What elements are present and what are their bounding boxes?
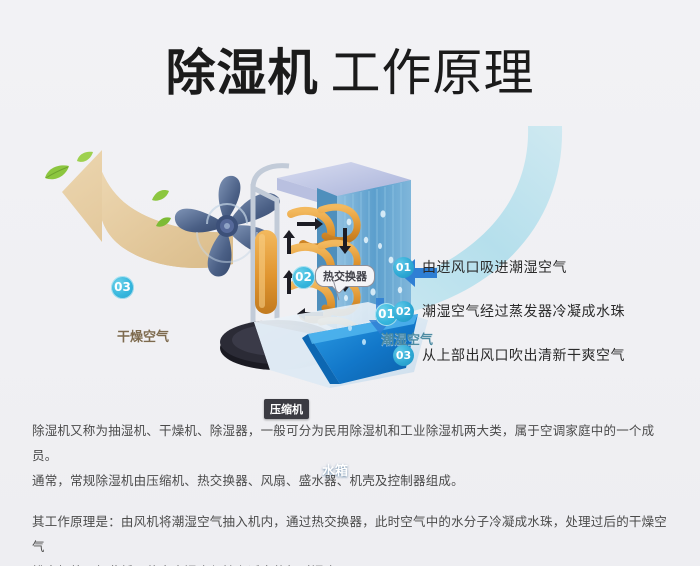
paragraph-2-line-2: 排出机外，如此循环使室内湿度保持在适宜的相对湿度。 xyxy=(32,559,672,566)
legend-item-03: 03 从上部出风口吹出清新干爽空气 xyxy=(393,344,683,366)
leaf-icon xyxy=(44,164,70,182)
legend-badge-01: 01 xyxy=(393,257,414,278)
legend-label-03: 从上部出风口吹出清新干爽空气 xyxy=(422,345,625,365)
paragraph-1-line-1: 除湿机又称为抽湿机、干燥机、除湿器，一般可分为民用除湿机和工业除湿机两大类，属于… xyxy=(32,418,672,468)
diagram-badge-02: 02 xyxy=(292,266,315,289)
page-title-light: 工作原理 xyxy=(331,44,535,102)
legend-item-02: 02 潮湿空气经过蒸发器冷凝成水珠 xyxy=(393,300,683,322)
page-title: 除湿机工作原理 xyxy=(0,33,700,105)
legend-list: 01 由进风口吸进潮湿空气 02 潮湿空气经过蒸发器冷凝成水珠 03 从上部出风… xyxy=(393,256,683,388)
legend-badge-03: 03 xyxy=(393,345,414,366)
label-compressor: 压缩机 xyxy=(264,399,309,419)
page-root: 除湿机工作原理 xyxy=(0,0,700,566)
legend-badge-02: 02 xyxy=(393,301,414,322)
paragraph-2-line-1: 其工作原理是：由风机将潮湿空气抽入机内，通过热交换器，此时空气中的水分子冷凝成水… xyxy=(32,509,672,559)
legend-item-01: 01 由进风口吸进潮湿空气 xyxy=(393,256,683,278)
legend-label-02: 潮湿空气经过蒸发器冷凝成水珠 xyxy=(422,301,625,321)
paragraph-1-line-2: 通常，常规除湿机由压缩机、热交换器、风扇、盛水器、机壳及控制器组成。 xyxy=(32,468,672,493)
leaf-icon xyxy=(76,151,94,164)
body-copy: 除湿机又称为抽湿机、干燥机、除湿器，一般可分为民用除湿机和工业除湿机两大类，属于… xyxy=(32,418,672,566)
page-title-bold: 除湿机 xyxy=(166,44,319,102)
label-dry-air: 干燥空气 xyxy=(117,326,169,345)
legend-label-01: 由进风口吸进潮湿空气 xyxy=(422,257,567,277)
leaf-icon xyxy=(152,188,170,202)
callout-heat-exchanger: 热交换器 xyxy=(315,265,375,287)
diagram-badge-03: 03 xyxy=(111,276,134,299)
